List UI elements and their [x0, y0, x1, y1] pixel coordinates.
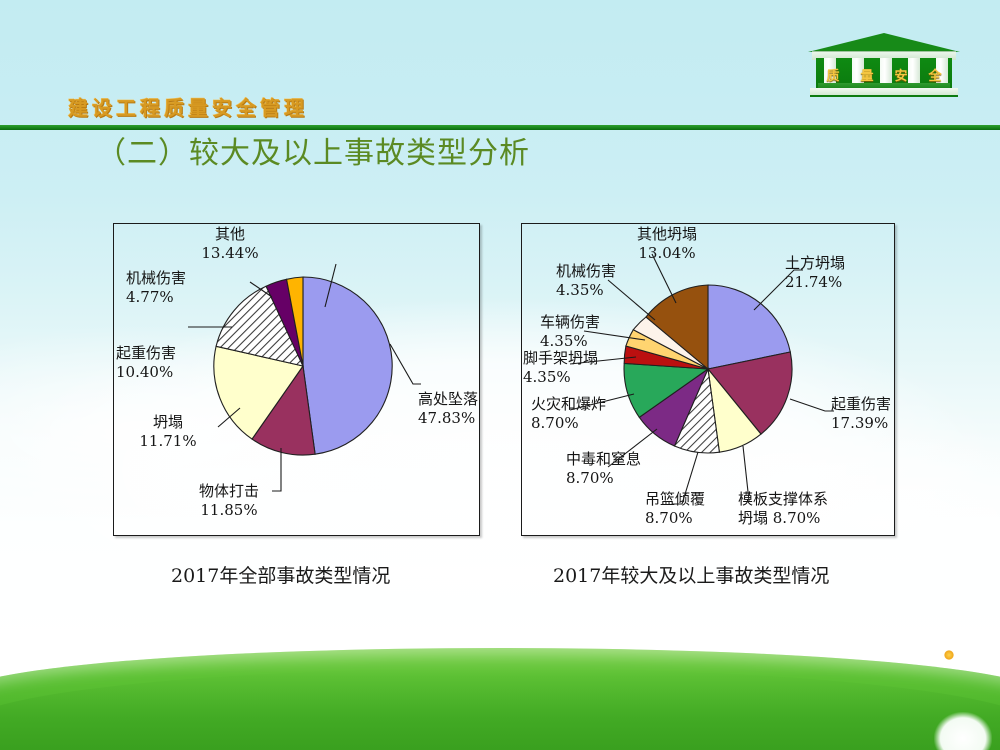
chart-right-caption: 2017年较大及以上事故类型情况	[553, 561, 829, 588]
pie-slices-left	[214, 277, 392, 455]
pie-slice-gaochuzhuiluo[interactable]	[303, 277, 392, 454]
leader-line-zhongduhezhixi	[608, 429, 657, 467]
pie-chart-left-svg	[114, 224, 479, 535]
leader-line-diaolanqingfu	[672, 452, 698, 504]
logo-char: 质	[826, 65, 839, 84]
logo-base	[810, 88, 958, 97]
leader-line-wutidaji	[272, 448, 281, 491]
quality-safety-temple-logo: 质 量 安 全	[808, 33, 960, 97]
pie-chart-major-accidents	[521, 223, 895, 536]
slide-title: （二）较大及以上事故类型分析	[96, 128, 530, 172]
logo-char: 量	[860, 65, 873, 84]
pie-chart-all-accidents	[113, 223, 480, 536]
pie-chart-right-svg	[522, 224, 894, 535]
logo-char: 全	[928, 65, 941, 84]
leader-line-qitatanta	[652, 254, 676, 303]
header-title: 建设工程质量安全管理	[68, 92, 308, 121]
bush-decoration	[934, 712, 992, 750]
logo-roof-icon	[808, 33, 960, 52]
logo-char: 安	[894, 65, 907, 84]
leader-line-qizhongshanghai	[790, 399, 834, 411]
chart-left-caption: 2017年全部事故类型情况	[171, 561, 390, 588]
leader-line-jixieshanghai	[608, 280, 655, 320]
leader-line-mobanzhicheng	[743, 446, 749, 501]
leader-line-gaochuzhuiluo	[390, 344, 421, 384]
presentation-slide: 建设工程质量安全管理 质 量 安 全 （二）较大及以上事故类型分析	[0, 0, 1000, 750]
pie-slices-right	[624, 285, 792, 453]
flower-icon	[944, 650, 954, 660]
leader-line-huozaihebaozha	[570, 394, 634, 410]
logo-text: 质 量 安 全	[816, 63, 952, 85]
